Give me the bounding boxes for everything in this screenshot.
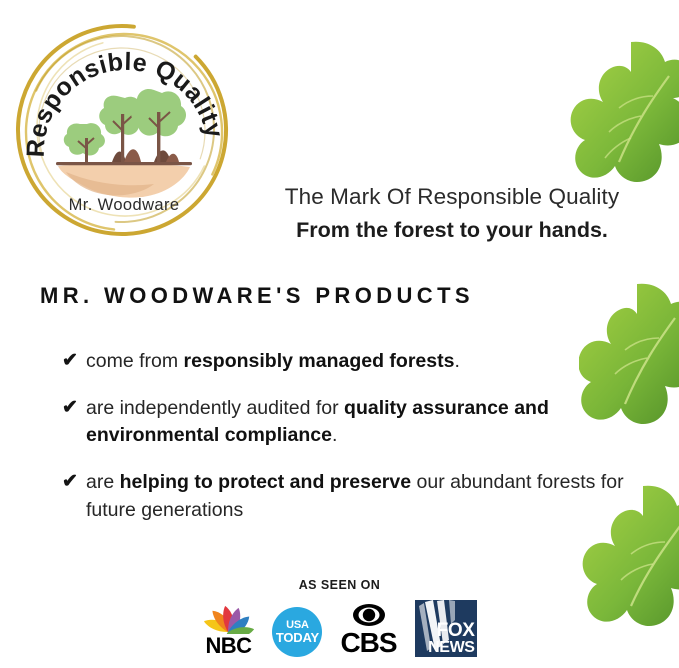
list-item: ✔ come from responsibly managed forests. [62, 348, 652, 376]
list-item-text: come from responsibly managed forests. [86, 348, 652, 376]
check-icon: ✔ [62, 348, 86, 375]
promotional-banner: Responsible Quality Mr. Woo [0, 0, 679, 668]
fox-news-line2: NEWS [428, 640, 474, 655]
responsible-quality-badge: Responsible Quality Mr. Woo [8, 14, 240, 246]
fox-news-wordmark: FOX NEWS [428, 622, 474, 655]
as-seen-on-label: AS SEEN ON [0, 578, 679, 592]
section-heading: MR. WOODWARE'S PRODUCTS [40, 283, 474, 309]
list-item-text: are helping to protect and preserve our … [86, 469, 652, 524]
headline-block: The Mark Of Responsible Quality From the… [250, 183, 654, 245]
usa-today-logo: USA TODAY [272, 607, 322, 657]
check-icon: ✔ [62, 395, 86, 422]
nbc-peacock-icon [202, 598, 254, 634]
headline-primary: The Mark Of Responsible Quality [250, 183, 654, 211]
list-item: ✔ are helping to protect and preserve ou… [62, 469, 652, 524]
usa-today-line2: TODAY [276, 631, 319, 644]
list-item-text: are independently audited for quality as… [86, 395, 652, 450]
fox-news-line1: FOX [428, 622, 474, 640]
fox-news-logo: FOX NEWS [415, 600, 477, 657]
media-logo-row: NBC USA TODAY CBS [0, 598, 679, 657]
badge-brand-text: Mr. Woodware [69, 196, 180, 214]
usa-today-circle: USA TODAY [272, 607, 322, 657]
cbs-logo: CBS [340, 602, 396, 657]
benefits-list: ✔ come from responsibly managed forests.… [62, 348, 652, 524]
cbs-wordmark: CBS [340, 629, 396, 657]
check-icon: ✔ [62, 469, 86, 496]
nbc-logo: NBC [202, 598, 254, 657]
headline-secondary: From the forest to your hands. [250, 217, 654, 245]
fox-news-box: FOX NEWS [415, 600, 477, 657]
cbs-eye-icon [352, 602, 386, 628]
list-item: ✔ are independently audited for quality … [62, 395, 652, 450]
nbc-wordmark: NBC [206, 635, 252, 657]
